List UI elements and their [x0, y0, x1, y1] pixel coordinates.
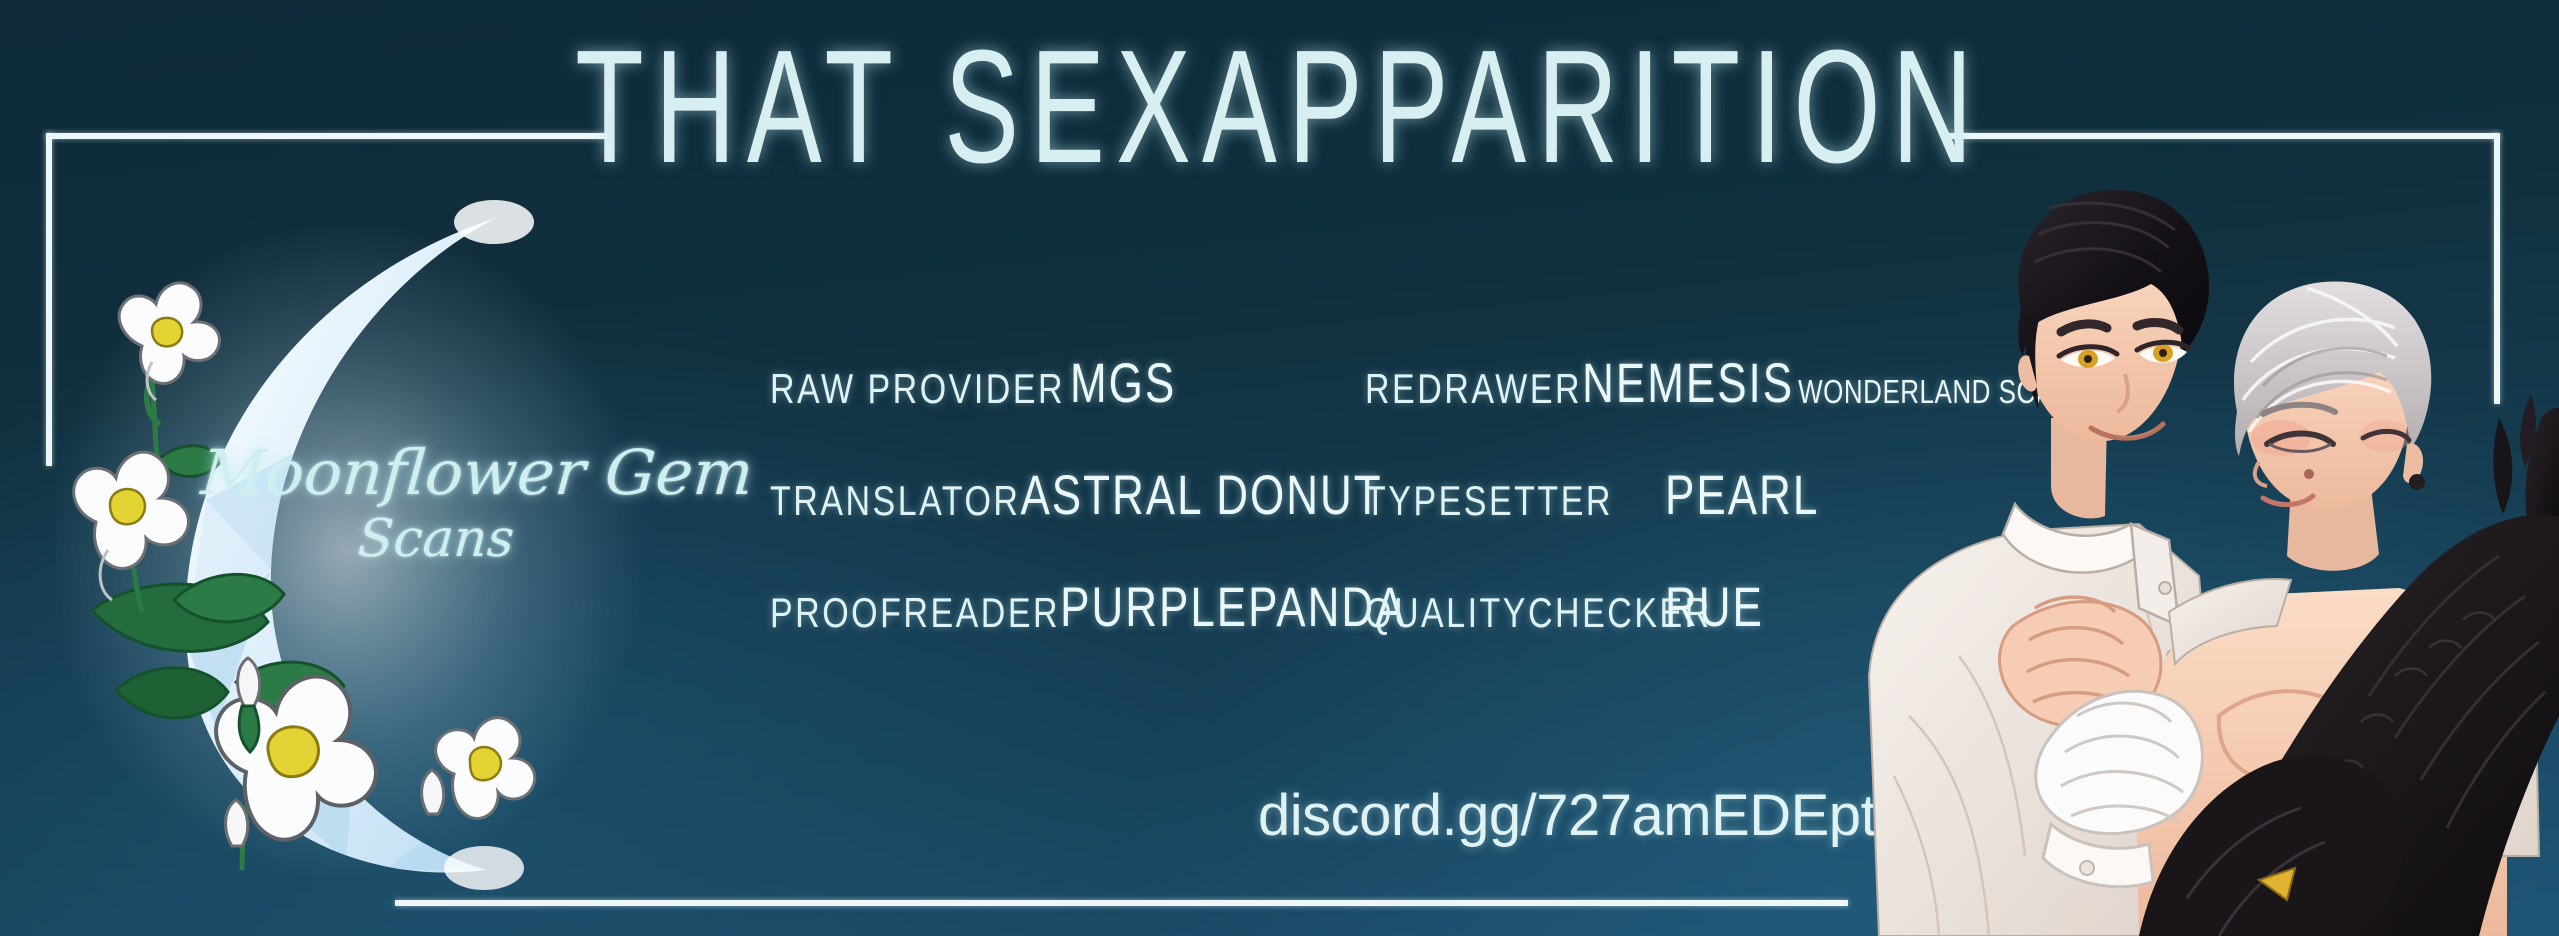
cover-artwork — [1839, 156, 2559, 936]
credit-redrawer: REDRAWER NEMESIS WONDERLAND SCANS — [1365, 366, 1920, 416]
credit-name-value: PEARL — [1665, 465, 1819, 528]
credit-role-label: QUALITYCHECKER — [1365, 590, 1665, 638]
credit-typesetter: TYPESETTER PEARL — [1365, 478, 1920, 528]
credit-role-label: RAW PROVIDER — [770, 366, 1070, 414]
credit-role-label: REDRAWER — [1365, 366, 1582, 414]
credits-grid: RAW PROVIDER MGS REDRAWER NEMESIS WONDER… — [770, 366, 1920, 702]
credit-name-value: NEMESIS — [1582, 353, 1794, 416]
credit-name-value: PURPLEPANDA — [1060, 577, 1406, 640]
credit-role-label: TRANSLATOR — [770, 478, 1020, 526]
credit-role-label: TYPESETTER — [1365, 478, 1665, 526]
credit-name-value: MGS — [1070, 353, 1176, 416]
credits-row: PROOFREADER PURPLEPANDA QUALITYCHECKER R… — [770, 590, 1920, 702]
credit-qualitychecker: QUALITYCHECKER RUE — [1365, 590, 1920, 640]
credit-name-value: RUE — [1665, 577, 1764, 640]
credits-row: TRANSLATOR ASTRAL DONUT TYPESETTER PEARL — [770, 478, 1920, 590]
moonflower-gem-scans-logo: Moonflower Gem Scans — [56, 170, 676, 890]
credit-proofreader: PROOFREADER PURPLEPANDA — [770, 590, 1365, 640]
discord-invite-link[interactable]: discord.gg/727amEDEpt — [1258, 782, 1876, 849]
credit-role-label: PROOFREADER — [770, 590, 1060, 638]
credits-row: RAW PROVIDER MGS REDRAWER NEMESIS WONDER… — [770, 366, 1920, 478]
credit-raw-provider: RAW PROVIDER MGS — [770, 366, 1365, 416]
bracket-left-vertical — [46, 133, 52, 466]
banner: THAT SEXAPPARITION — [0, 0, 2559, 936]
bracket-bottom-rule — [395, 900, 1848, 906]
credit-translator: TRANSLATOR ASTRAL DONUT — [770, 478, 1365, 528]
credit-name-value: ASTRAL DONUT — [1020, 465, 1382, 528]
